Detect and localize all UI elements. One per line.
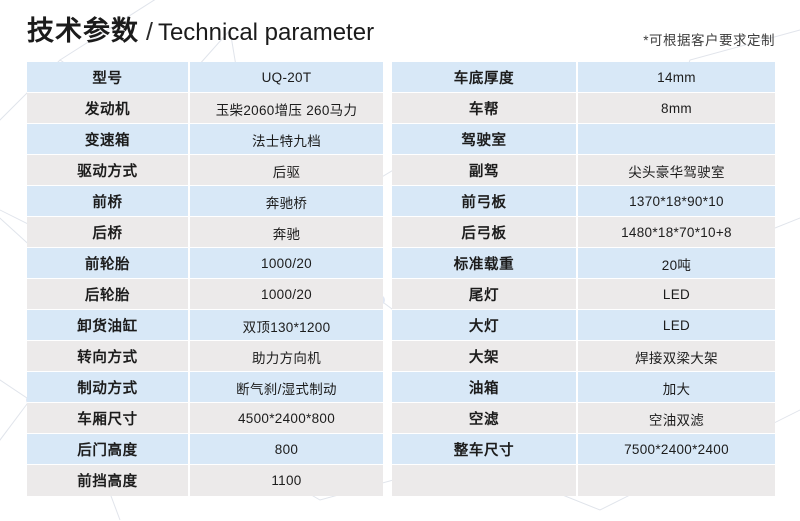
table-row: 卸货油缸双顶130*1200: [27, 310, 383, 341]
spec-value: 尖头豪华驾驶室: [578, 155, 775, 186]
table-row: 后弓板1480*18*70*10+8: [392, 217, 775, 248]
table-row: 后桥奔驰: [27, 217, 383, 248]
table-row: 驾驶室: [392, 124, 775, 155]
spec-value: 4500*2400*800: [190, 403, 383, 434]
page-title-cn: 技术参数: [27, 16, 139, 46]
spec-label: 制动方式: [27, 372, 190, 403]
spec-value: LED: [578, 279, 775, 310]
table-row: 前桥奔驰桥: [27, 186, 383, 217]
table-row: 大架焊接双梁大架: [392, 341, 775, 372]
spec-label: 前挡高度: [27, 465, 190, 496]
table-row: 发动机玉柴2060增压 260马力: [27, 93, 383, 124]
table-row: 前弓板1370*18*90*10: [392, 186, 775, 217]
spec-value: 双顶130*1200: [190, 310, 383, 341]
spec-label: 卸货油缸: [27, 310, 190, 341]
spec-value: 后驱: [190, 155, 383, 186]
spec-label: 副驾: [392, 155, 578, 186]
spec-label: 后门高度: [27, 434, 190, 465]
table-row: 转向方式助力方向机: [27, 341, 383, 372]
spec-label: 车底厚度: [392, 62, 578, 93]
table-row: 油箱加大: [392, 372, 775, 403]
table-row: 空滤空油双滤: [392, 403, 775, 434]
page-title-en: Technical parameter: [158, 19, 374, 46]
spec-label: 大灯: [392, 310, 578, 341]
spec-label: 前轮胎: [27, 248, 190, 279]
spec-label: 油箱: [392, 372, 578, 403]
table-row: 车厢尺寸4500*2400*800: [27, 403, 383, 434]
spec-label: [392, 465, 578, 496]
table-row: 型号UQ-20T: [27, 62, 383, 93]
table-row: 后门高度800: [27, 434, 383, 465]
customization-note: *可根据客户要求定制: [643, 29, 775, 49]
spec-value: 1100: [190, 465, 383, 496]
spec-label: 变速箱: [27, 124, 190, 155]
spec-value: 1480*18*70*10+8: [578, 217, 775, 248]
table-row: 制动方式断气刹/湿式制动: [27, 372, 383, 403]
spec-label: 大架: [392, 341, 578, 372]
spec-label: 后轮胎: [27, 279, 190, 310]
spec-value: UQ-20T: [190, 62, 383, 93]
table-row: 变速箱法士特九档: [27, 124, 383, 155]
spec-value: 助力方向机: [190, 341, 383, 372]
table-row: [392, 465, 775, 496]
spec-value: 1000/20: [190, 248, 383, 279]
spec-value: [578, 465, 775, 496]
spec-label: 前桥: [27, 186, 190, 217]
spec-value: 奔驰桥: [190, 186, 383, 217]
spec-label: 驾驶室: [392, 124, 578, 155]
spec-label: 空滤: [392, 403, 578, 434]
spec-value: 8mm: [578, 93, 775, 124]
spec-label: 后弓板: [392, 217, 578, 248]
spec-label: 后桥: [27, 217, 190, 248]
table-row: 驱动方式后驱: [27, 155, 383, 186]
spec-value: [578, 124, 775, 155]
table-row: 整车尺寸7500*2400*2400: [392, 434, 775, 465]
table-row: 大灯LED: [392, 310, 775, 341]
spec-label: 车帮: [392, 93, 578, 124]
spec-value: 玉柴2060增压 260马力: [190, 93, 383, 124]
spec-value: 断气刹/湿式制动: [190, 372, 383, 403]
spec-value: 奔驰: [190, 217, 383, 248]
spec-value: LED: [578, 310, 775, 341]
spec-value: 加大: [578, 372, 775, 403]
spec-value: 空油双滤: [578, 403, 775, 434]
table-row: 车底厚度14mm: [392, 62, 775, 93]
spec-label: 发动机: [27, 93, 190, 124]
table-row: 尾灯LED: [392, 279, 775, 310]
table-row: 后轮胎1000/20: [27, 279, 383, 310]
spec-table-left: 型号UQ-20T发动机玉柴2060增压 260马力变速箱法士特九档驱动方式后驱前…: [27, 62, 383, 496]
spec-value: 1000/20: [190, 279, 383, 310]
spec-value: 20吨: [578, 248, 775, 279]
spec-label: 转向方式: [27, 341, 190, 372]
table-row: 标准载重20吨: [392, 248, 775, 279]
table-row: 前挡高度1100: [27, 465, 383, 496]
page-header: 技术参数/Technical parameter *可根据客户要求定制: [0, 0, 800, 60]
page-title-separator: /: [146, 18, 153, 46]
page-title: 技术参数/Technical parameter: [27, 18, 374, 45]
spec-value: 14mm: [578, 62, 775, 93]
table-row: 前轮胎1000/20: [27, 248, 383, 279]
spec-label: 型号: [27, 62, 190, 93]
spec-value: 800: [190, 434, 383, 465]
spec-label: 尾灯: [392, 279, 578, 310]
spec-value: 1370*18*90*10: [578, 186, 775, 217]
spec-sheet-page: 技术参数/Technical parameter *可根据客户要求定制 型号UQ…: [0, 0, 800, 521]
spec-label: 驱动方式: [27, 155, 190, 186]
table-row: 副驾尖头豪华驾驶室: [392, 155, 775, 186]
spec-value: 焊接双梁大架: [578, 341, 775, 372]
table-row: 车帮8mm: [392, 93, 775, 124]
spec-value: 法士特九档: [190, 124, 383, 155]
spec-value: 7500*2400*2400: [578, 434, 775, 465]
spec-table-right: 车底厚度14mm车帮8mm驾驶室副驾尖头豪华驾驶室前弓板1370*18*90*1…: [392, 62, 775, 496]
spec-label: 标准载重: [392, 248, 578, 279]
spec-label: 整车尺寸: [392, 434, 578, 465]
spec-label: 车厢尺寸: [27, 403, 190, 434]
spec-label: 前弓板: [392, 186, 578, 217]
